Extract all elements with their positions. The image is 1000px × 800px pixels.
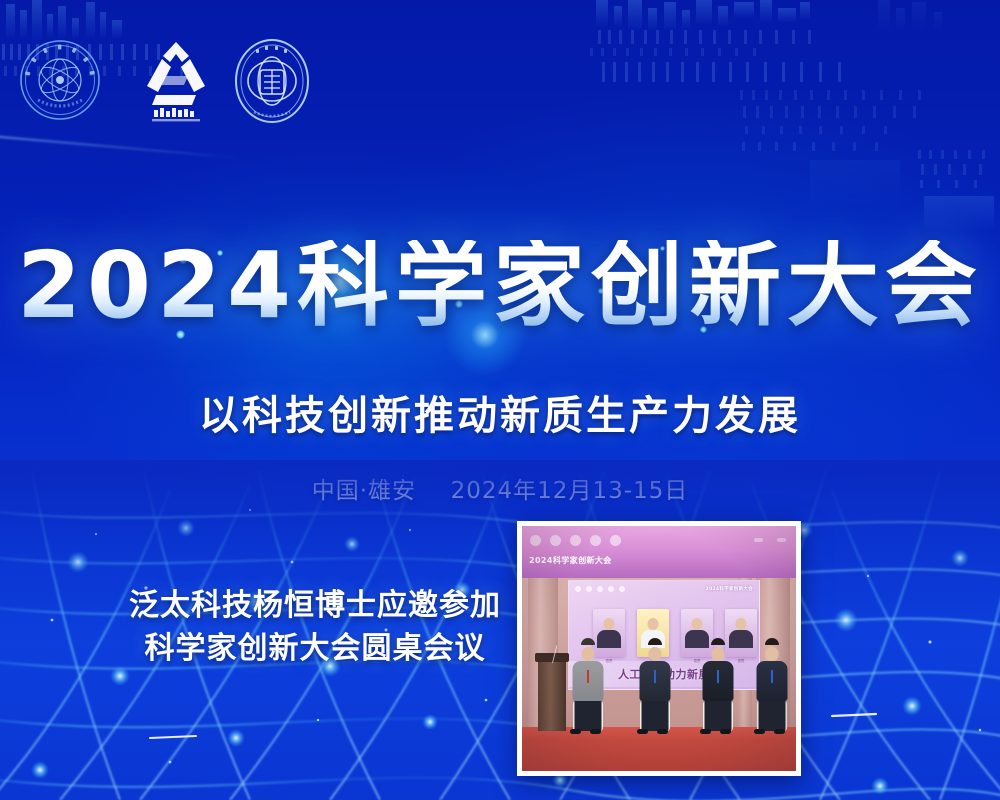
head: [712, 647, 725, 661]
panelist-3: [698, 639, 738, 731]
conference-poster: 2024科学家创新大会 以科技创新推动新质生产力发展 中国·雄安 2024年12…: [0, 0, 1000, 800]
event-meta: 中国·雄安 2024年12月13-15日: [0, 471, 1000, 505]
triangle-icon: [550, 535, 561, 546]
badge-lanyard: [587, 670, 589, 683]
badge-lanyard: [771, 670, 773, 683]
led-banner-title: 2024科学家创新大会: [529, 555, 612, 566]
portrait-head: [736, 618, 747, 630]
panelist-4: [752, 639, 792, 731]
circle-icon: [570, 535, 581, 546]
event-photo-image: 2024科学家创新大会 2024科学家创新大会: [522, 526, 796, 771]
panelist-1: [568, 639, 608, 731]
portrait-head: [692, 618, 703, 630]
shoe: [700, 729, 711, 734]
badge-lanyard: [654, 670, 656, 683]
hair: [648, 638, 662, 645]
background-data-grid: [740, 90, 940, 220]
screen-icon-row: [575, 586, 625, 592]
shoe: [720, 729, 731, 734]
shoe: [590, 729, 601, 734]
circle-icon: [619, 586, 625, 592]
photo-caption: 泛太科技杨恒博士应邀参加 科学家创新大会圆桌会议: [120, 585, 510, 670]
shoe: [657, 729, 668, 734]
head: [649, 647, 662, 661]
subtitle: 以科技创新推动新质生产力发展: [0, 383, 1000, 441]
shoe: [774, 729, 785, 734]
portrait-head: [648, 618, 659, 630]
oval-seal-logo-right: [230, 36, 314, 126]
shoe: [637, 729, 648, 734]
background-sweep-line: [0, 135, 240, 159]
circle-icon: [586, 586, 592, 592]
head: [582, 647, 595, 661]
event-date: 2024年12月13-15日: [451, 478, 689, 504]
led-banner: 2024科学家创新大会: [522, 526, 796, 578]
panelist-2: [635, 639, 675, 731]
badge-lanyard: [717, 670, 719, 683]
caption-line-1: 泛太科技杨恒博士应邀参加: [129, 588, 501, 623]
circular-seal-logo-left: [18, 38, 102, 122]
led-banner-icons: [530, 535, 621, 546]
shoe: [754, 729, 765, 734]
circle-icon: [610, 535, 621, 546]
led-banner-dots: [754, 538, 786, 542]
circle-icon: [597, 586, 603, 592]
legs: [759, 697, 786, 731]
background-data-grid-right: [918, 150, 1000, 240]
hair: [711, 638, 725, 645]
page-title: 2024科学家创新大会: [0, 240, 1000, 332]
hair: [765, 638, 779, 645]
logo-row: [18, 34, 318, 126]
podium: [538, 659, 566, 731]
screen-logo-text: 2024科学家创新大会: [706, 586, 753, 592]
triangle-icon: [608, 586, 614, 592]
legs: [575, 697, 602, 731]
event-photo: 2024科学家创新大会 2024科学家创新大会: [517, 521, 801, 776]
dot-icon: [777, 538, 786, 542]
caption-line-2: 科学家创新大会圆桌会议: [120, 628, 510, 671]
dot-icon: [754, 538, 763, 542]
hair: [581, 638, 595, 645]
portrait-head: [604, 618, 615, 630]
legs: [642, 697, 669, 731]
event-location: 中国·雄安: [312, 478, 416, 504]
circle-icon: [575, 586, 581, 592]
head: [766, 647, 779, 661]
title-block: 2024科学家创新大会: [0, 240, 1000, 332]
shoe: [570, 729, 581, 734]
triangle-icon: [590, 535, 601, 546]
triangle-logo-center: [134, 36, 218, 124]
circle-icon: [530, 535, 541, 546]
legs: [705, 697, 732, 731]
